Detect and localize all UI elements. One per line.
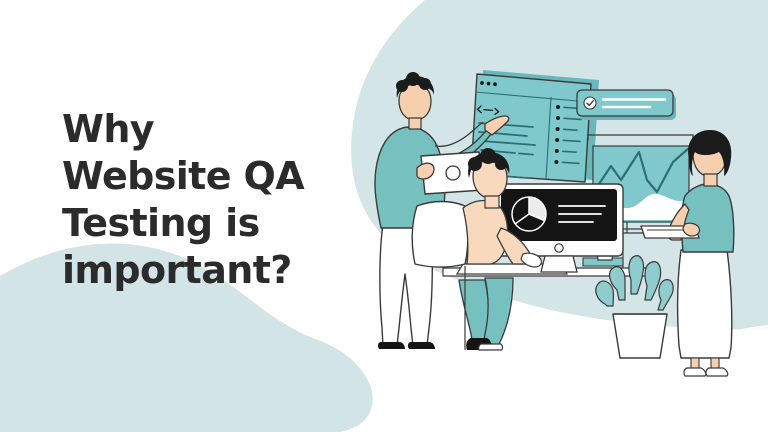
test-passed-notification-card <box>577 90 676 120</box>
poster-canvas: Why Website QA Testing is important? <box>0 0 768 432</box>
qa-testing-team-illustration: --> <box>355 28 755 388</box>
shoes <box>684 368 728 376</box>
page-title: Why Website QA Testing is important? <box>62 106 352 294</box>
shoes <box>378 342 435 349</box>
check-circle-icon <box>584 97 596 109</box>
